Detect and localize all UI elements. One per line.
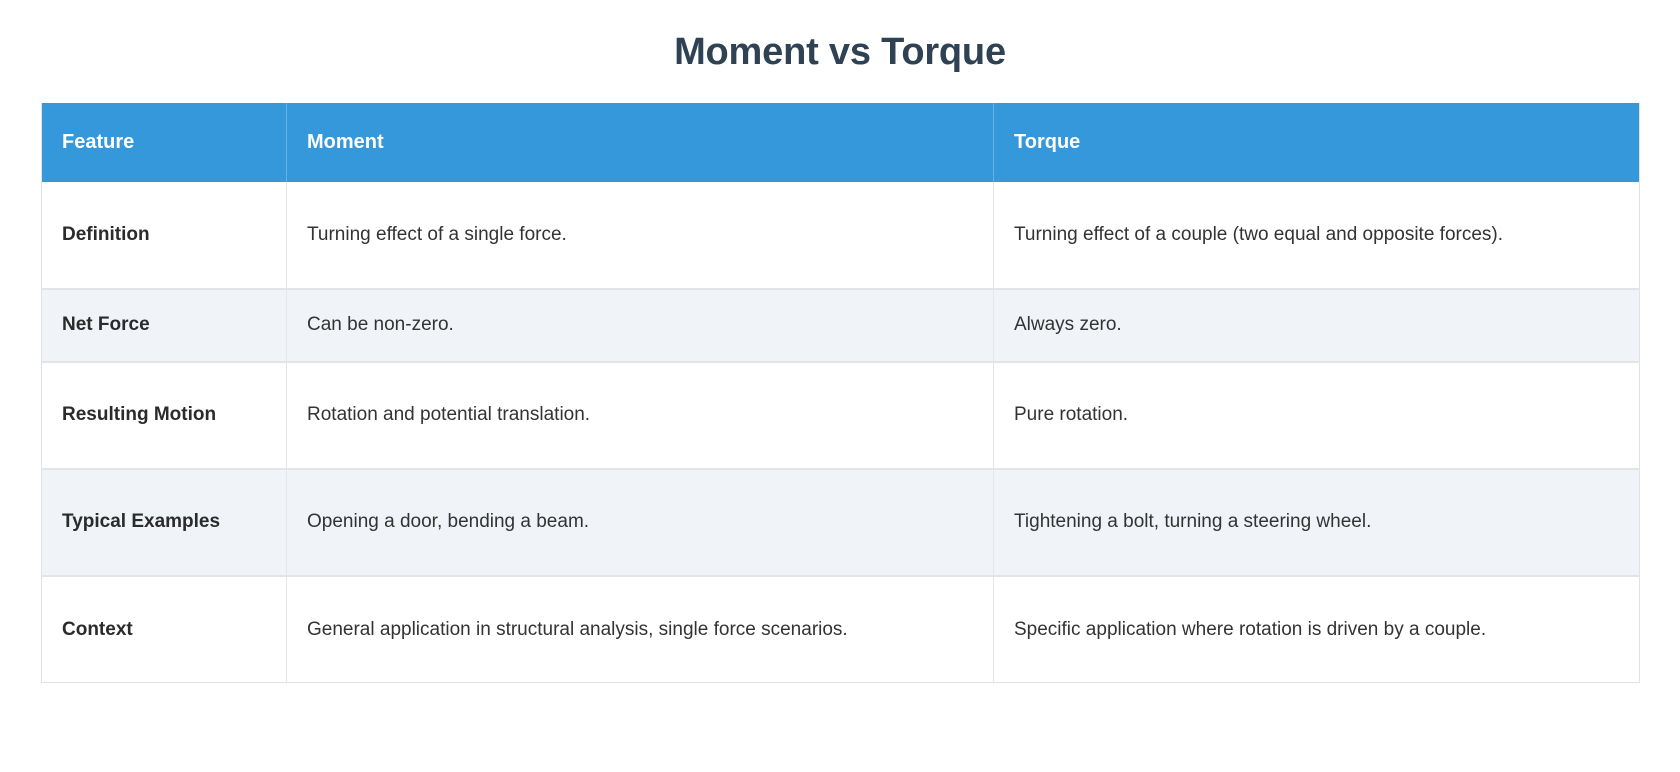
table-row: Typical Examples Opening a door, bending… xyxy=(42,469,1640,576)
cell-feature: Typical Examples xyxy=(42,469,287,576)
comparison-table-container: Feature Moment Torque Definition Turning… xyxy=(41,103,1639,684)
table-body: Definition Turning effect of a single fo… xyxy=(42,182,1640,683)
cell-feature: Context xyxy=(42,576,287,683)
column-header-feature: Feature xyxy=(42,103,287,182)
cell-feature: Resulting Motion xyxy=(42,362,287,469)
column-header-torque: Torque xyxy=(994,103,1640,182)
table-header-row: Feature Moment Torque xyxy=(42,103,1640,182)
table-row: Context General application in structura… xyxy=(42,576,1640,683)
page-root: Moment vs Torque Feature Moment Torque D… xyxy=(0,0,1680,772)
cell-torque: Pure rotation. xyxy=(994,362,1640,469)
comparison-table: Feature Moment Torque Definition Turning… xyxy=(41,103,1640,684)
cell-torque: Tightening a bolt, turning a steering wh… xyxy=(994,469,1640,576)
cell-moment: Can be non-zero. xyxy=(287,289,994,362)
table-row: Definition Turning effect of a single fo… xyxy=(42,182,1640,289)
cell-feature: Net Force xyxy=(42,289,287,362)
cell-torque: Specific application where rotation is d… xyxy=(994,576,1640,683)
cell-torque: Turning effect of a couple (two equal an… xyxy=(994,182,1640,289)
cell-moment: Opening a door, bending a beam. xyxy=(287,469,994,576)
cell-moment: General application in structural analys… xyxy=(287,576,994,683)
page-title: Moment vs Torque xyxy=(0,0,1680,76)
cell-moment: Rotation and potential translation. xyxy=(287,362,994,469)
column-header-moment: Moment xyxy=(287,103,994,182)
table-row: Net Force Can be non-zero. Always zero. xyxy=(42,289,1640,362)
cell-moment: Turning effect of a single force. xyxy=(287,182,994,289)
cell-torque: Always zero. xyxy=(994,289,1640,362)
table-row: Resulting Motion Rotation and potential … xyxy=(42,362,1640,469)
table-header: Feature Moment Torque xyxy=(42,103,1640,182)
cell-feature: Definition xyxy=(42,182,287,289)
